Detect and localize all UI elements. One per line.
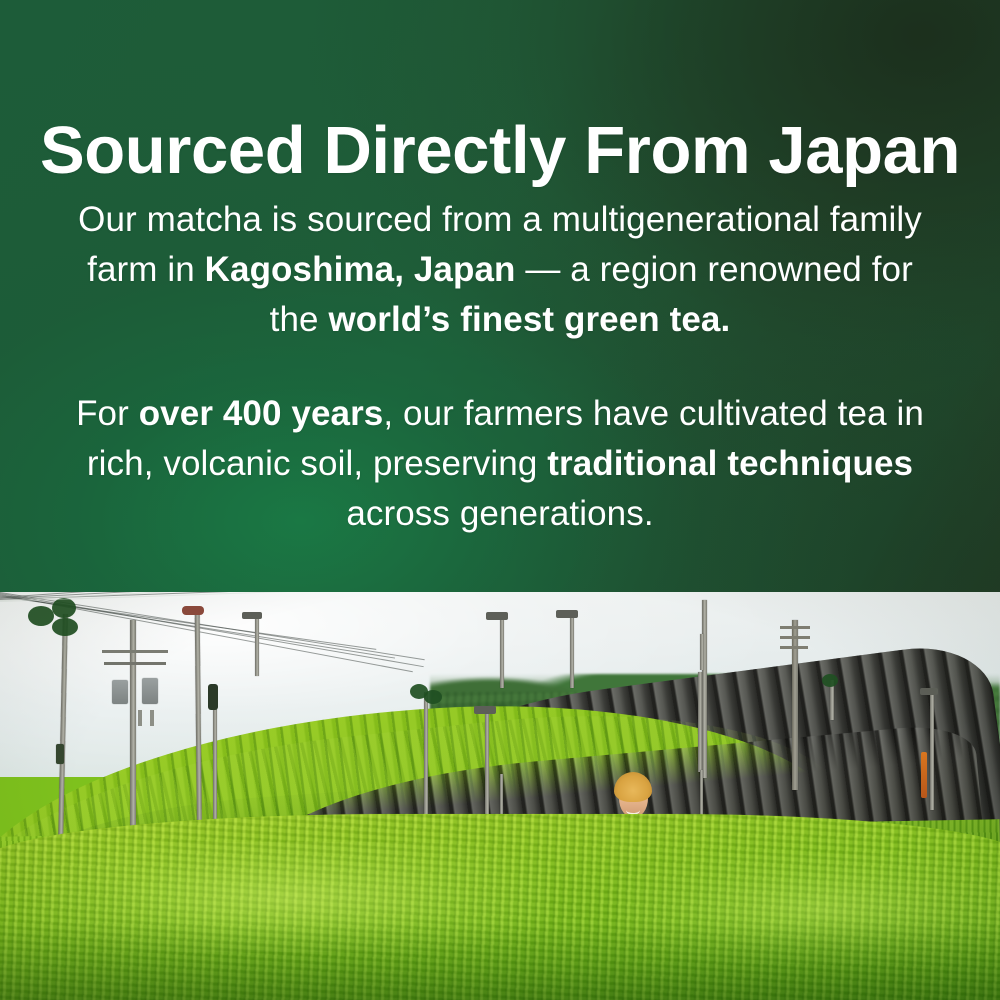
lamp-pole [700,634,704,670]
lamp-pole [255,616,259,676]
lamp-pole [570,616,574,688]
text-run-bold: traditional techniques [547,444,913,483]
crossarm [102,650,168,653]
lamp-head [556,610,578,618]
lamp-pole [698,672,702,772]
lamp-head [242,612,262,619]
pole-fitting [56,744,64,764]
text-run: across generations. [346,494,653,533]
farmer-hair [614,772,652,802]
body-copy: Our matcha is sourced from a multigenera… [70,195,930,539]
text-run-bold: world’s finest green tea. [328,300,730,339]
panel-content: Sourced Directly From Japan Our matcha i… [0,0,1000,592]
text-run-bold: Kagoshima, Japan [205,250,516,289]
transformer [142,678,158,704]
frost-fan-blade [52,598,76,618]
lamp-head [474,706,496,714]
text-run: For [76,394,139,433]
lamp-head [920,688,938,695]
promo-banner: Sourced Directly From Japan Our matcha i… [0,0,1000,1000]
lamp-pole [702,600,707,778]
frost-fan-blade [822,674,838,687]
insulator [150,710,154,726]
page-title: Sourced Directly From Japan [0,115,1000,187]
crossarm [780,626,810,629]
lamp-pole [500,618,504,688]
pole-lamp [182,606,204,615]
frost-fan-housing [208,684,218,710]
crossarm [104,662,166,665]
green-text-panel: Sourced Directly From Japan Our matcha i… [0,0,1000,592]
frost-fan-blade [424,690,442,704]
tea-farm-photo: Japanese tea plantation in Kagoshima wit… [0,592,1000,1000]
crossarm [780,636,810,639]
foreground-shadow [0,922,1000,1000]
lamp-head [486,612,508,620]
frost-fan-blade [28,606,54,626]
marker-post [921,752,927,798]
lamp-pole [930,692,934,810]
transformer [112,680,128,704]
crossarm [780,646,808,649]
frost-fan-blade [52,618,78,636]
paragraph-origin: Our matcha is sourced from a multigenera… [70,195,930,345]
insulator [138,710,142,726]
text-run-bold: over 400 years [139,394,384,433]
paragraph-heritage: For over 400 years, our farmers have cul… [70,389,930,539]
